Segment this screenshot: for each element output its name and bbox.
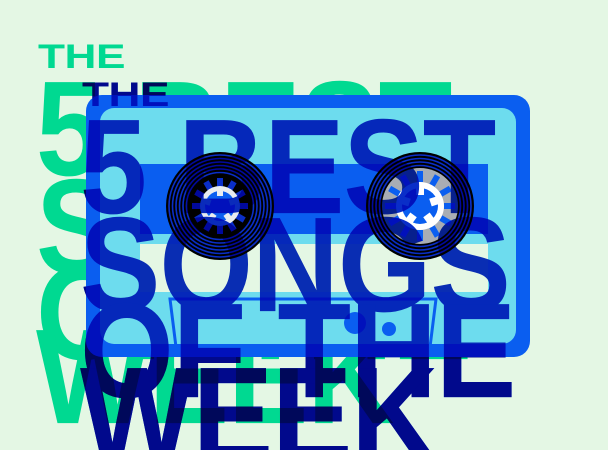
headline-blue-layer-over: THE 5 BEST SONGS OF THE WEEK xyxy=(0,0,608,450)
headline-line-week-blue-top: WEEK xyxy=(80,348,437,450)
headline-blue-offset-group-top: THE 5 BEST SONGS OF THE WEEK xyxy=(44,38,608,450)
poster-canvas: THE 5 BEST SONGS OF THE WEEK THE 5 BEST … xyxy=(0,0,608,450)
